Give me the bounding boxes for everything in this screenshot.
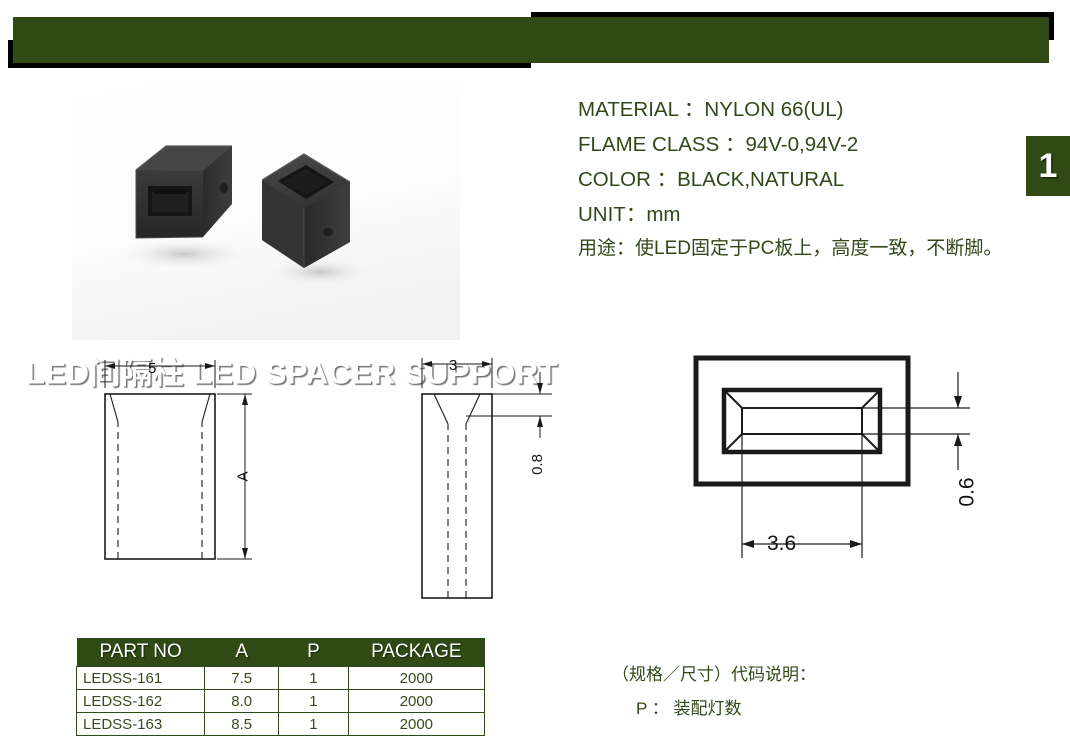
column-header-package: PACKAGE bbox=[348, 638, 484, 667]
spec-usage-note: 用途：使LED固定于PC板上，高度一致，不断脚。 bbox=[578, 232, 1018, 266]
cell-part-no: LEDSS-162 bbox=[77, 690, 205, 713]
front-view-height-label: A bbox=[235, 471, 252, 481]
front-view-width-label: 5 bbox=[148, 360, 156, 377]
product-photo-image bbox=[72, 82, 460, 340]
cell-a: 7.5 bbox=[205, 667, 279, 690]
side-view-drawing bbox=[400, 340, 620, 615]
technical-drawings: 5 A 3 0.8 bbox=[0, 340, 1070, 615]
header-bar bbox=[8, 12, 1054, 68]
product-photo bbox=[72, 82, 460, 340]
top-view-height-label: 0.6 bbox=[956, 477, 980, 506]
column-header-part-no: PART NO bbox=[77, 638, 205, 667]
parts-table: PART NO A P PACKAGE LEDSS-161 7.5 1 2000… bbox=[76, 638, 485, 736]
table-row: LEDSS-162 8.0 1 2000 bbox=[77, 690, 485, 713]
spec-color: COLOR ：BLACK,NATURAL bbox=[578, 162, 1018, 197]
cell-a: 8.0 bbox=[205, 690, 279, 713]
cell-package: 2000 bbox=[348, 690, 484, 713]
code-legend: （规格／尺寸）代码说明： P ： 装配灯数 bbox=[612, 658, 992, 726]
table-row: LEDSS-163 8.5 1 2000 bbox=[77, 713, 485, 736]
side-view-detail-label: 0.8 bbox=[529, 454, 546, 475]
cell-package: 2000 bbox=[348, 713, 484, 736]
cell-p: 1 bbox=[279, 667, 349, 690]
side-view-width-label: 3 bbox=[449, 357, 457, 374]
cell-p: 1 bbox=[279, 713, 349, 736]
cell-p: 1 bbox=[279, 690, 349, 713]
page-number-badge: 1 bbox=[1026, 136, 1070, 196]
front-view-drawing bbox=[80, 340, 330, 615]
cell-part-no: LEDSS-161 bbox=[77, 667, 205, 690]
column-header-a: A bbox=[205, 638, 279, 667]
top-view-width-label: 3.6 bbox=[767, 532, 796, 556]
table-header-row: PART NO A P PACKAGE bbox=[77, 638, 485, 667]
cell-package: 2000 bbox=[348, 667, 484, 690]
cell-a: 8.5 bbox=[205, 713, 279, 736]
table-row: LEDSS-161 7.5 1 2000 bbox=[77, 667, 485, 690]
specifications-block: MATERIAL ：NYLON 66(UL) FLAME CLASS ：94V-… bbox=[578, 92, 1018, 266]
spec-flame-class: FLAME CLASS ：94V-0,94V-2 bbox=[578, 127, 1018, 162]
spec-material: MATERIAL ：NYLON 66(UL) bbox=[578, 92, 1018, 127]
column-header-p: P bbox=[279, 638, 349, 667]
cell-part-no: LEDSS-163 bbox=[77, 713, 205, 736]
legend-item-p: P ： 装配灯数 bbox=[612, 692, 992, 726]
spec-unit: UNIT：mm bbox=[578, 197, 1018, 232]
legend-title: （规格／尺寸）代码说明： bbox=[612, 658, 992, 692]
